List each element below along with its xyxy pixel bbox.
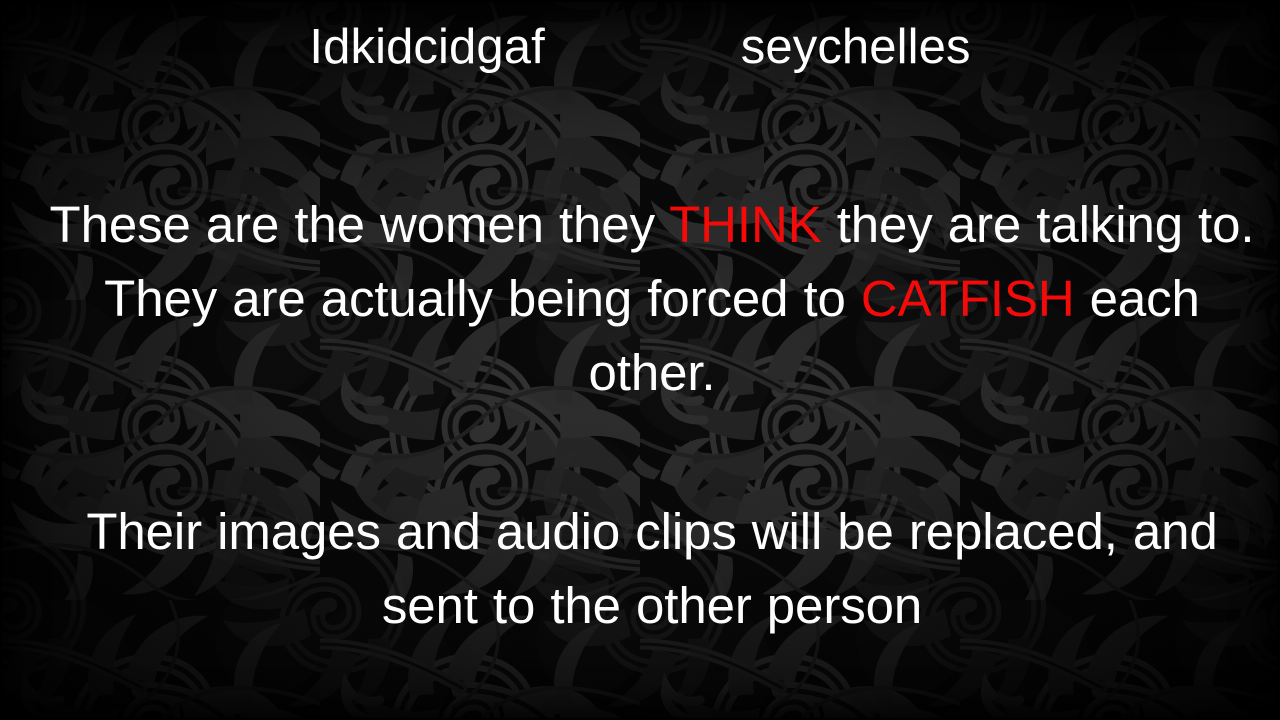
- text-run: Their images and audio clips will be rep…: [86, 503, 1217, 634]
- slide-content: Idkidcidgaf seychelles These are the wom…: [0, 0, 1280, 720]
- paragraph-media-swap-note: Their images and audio clips will be rep…: [46, 495, 1258, 643]
- text-run: These are the women they: [50, 196, 670, 253]
- emphasised-word: CATFISH: [861, 270, 1075, 327]
- emphasised-word: THINK: [669, 196, 822, 253]
- heading-row: Idkidcidgaf seychelles: [0, 21, 1280, 74]
- heading-username-right: seychelles: [741, 21, 971, 74]
- heading-username-left: Idkidcidgaf: [309, 21, 544, 74]
- paragraph-catfish-explanation: These are the women they THINK they are …: [46, 188, 1258, 410]
- slide-canvas: Idkidcidgaf seychelles These are the wom…: [0, 0, 1280, 720]
